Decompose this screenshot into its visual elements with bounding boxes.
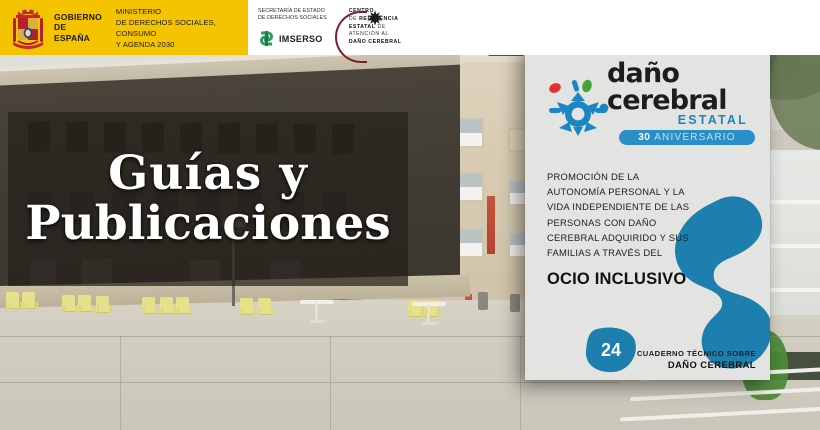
agency-logos-block: SECRETARÍA DE ESTADO DE DERECHOS SOCIALE… bbox=[248, 0, 820, 55]
cover-footer: CUADERNO TÉCNICO SOBRE DAÑO CEREBRAL bbox=[637, 349, 756, 370]
logo-estatal-label: ESTATAL bbox=[678, 113, 748, 127]
cover-headline: OCIO INCLUSIVO bbox=[547, 270, 705, 289]
secretaria-line-1: SECRETARÍA DE ESTADO bbox=[258, 8, 327, 15]
secretaria-line-2: DE DERECHOS SOCIALES bbox=[258, 15, 327, 22]
government-header: GOBIERNO DE ESPAÑA MINISTERIO DE DERECHO… bbox=[0, 0, 820, 55]
ministerio-line-2: DE DERECHOS SOCIALES, CONSUMO bbox=[116, 17, 248, 39]
cover-body-line: PROMOCIÓN DE LA bbox=[547, 169, 705, 184]
imserso-logo: IMSERSO bbox=[258, 30, 327, 47]
anniversary-badge: 30 ANIVERSARIO bbox=[619, 130, 755, 145]
waste-bin bbox=[510, 294, 520, 312]
logo-wordmark: daño cerebral bbox=[607, 62, 727, 113]
title-line-1: Guías y bbox=[108, 151, 308, 197]
title-line-2: Publicaciones bbox=[25, 201, 391, 247]
ministerio-line-3: Y AGENDA 2030 bbox=[116, 39, 248, 50]
cover-footer-line-1: CUADERNO TÉCNICO SOBRE bbox=[637, 349, 756, 358]
table bbox=[412, 302, 446, 306]
ceadac-burst-icon bbox=[367, 10, 383, 26]
publications-banner: GOBIERNO DE ESPAÑA MINISTERIO DE DERECHO… bbox=[0, 0, 820, 430]
waste-bin bbox=[478, 292, 488, 310]
cover-body-line: VIDA INDEPENDIENTE DE LAS bbox=[547, 199, 705, 214]
cover-body-line: PERSONAS CON DAÑO bbox=[547, 215, 705, 230]
dano-cerebral-logo: daño cerebral ESTATAL 30 ANIVERSARIO bbox=[547, 58, 752, 144]
logo-word-cerebral: cerebral bbox=[607, 88, 727, 114]
issue-number-badge: 24 bbox=[585, 327, 637, 373]
imserso-mark-icon bbox=[258, 30, 275, 47]
logo-word-dano: daño bbox=[607, 62, 727, 87]
cover-body-line: AUTONOMÍA PERSONAL Y LA bbox=[547, 184, 705, 199]
coat-of-arms-icon bbox=[8, 6, 48, 50]
banner-title: Guías y Publicaciones bbox=[8, 112, 408, 286]
imserso-label: IMSERSO bbox=[279, 34, 323, 44]
cover-footer-line-2: DAÑO CEREBRAL bbox=[637, 359, 756, 370]
table bbox=[300, 300, 334, 304]
issue-number: 24 bbox=[585, 327, 637, 373]
gobierno-label: GOBIERNO DE ESPAÑA bbox=[54, 12, 102, 44]
ministerio-line-1: MINISTERIO bbox=[116, 6, 248, 17]
secretaria-imserso-block: SECRETARÍA DE ESTADO DE DERECHOS SOCIALE… bbox=[248, 8, 333, 47]
cover-body-line: FAMILIAS A TRAVÉS DEL bbox=[547, 245, 705, 260]
gobierno-de-espana-block: GOBIERNO DE ESPAÑA MINISTERIO DE DERECHO… bbox=[0, 0, 248, 55]
cover-description: PROMOCIÓN DE LA AUTONOMÍA PERSONAL Y LA … bbox=[547, 169, 705, 289]
cover-body-line: CEREBRAL ADQUIRIDO Y SUS bbox=[547, 230, 705, 245]
red-column bbox=[487, 196, 495, 254]
gobierno-line-1: GOBIERNO bbox=[54, 12, 102, 23]
publication-cover[interactable]: daño cerebral ESTATAL 30 ANIVERSARIO PRO… bbox=[525, 44, 770, 380]
neuron-icon bbox=[547, 78, 609, 138]
secretaria-label: SECRETARÍA DE ESTADO DE DERECHOS SOCIALE… bbox=[258, 8, 327, 22]
gobierno-line-2: DE ESPAÑA bbox=[54, 22, 102, 43]
anniversary-number: 30 bbox=[638, 132, 650, 143]
ministerio-label: MINISTERIO DE DERECHOS SOCIALES, CONSUMO… bbox=[116, 6, 248, 50]
anniversary-label: ANIVERSARIO bbox=[654, 132, 736, 143]
ceadac-logo: CENTRO DE REFERENCIA ESTATAL DE ATENCIÓN… bbox=[333, 8, 410, 47]
